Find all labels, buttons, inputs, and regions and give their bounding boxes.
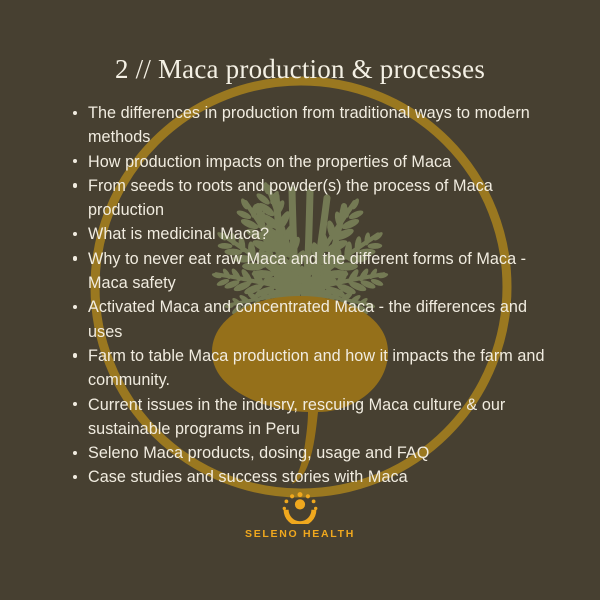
brand-name: SELENO HEALTH <box>0 528 600 540</box>
agenda-bullet-list: The differences in production from tradi… <box>66 101 552 490</box>
seleno-sun-bowl-logo-icon <box>278 492 322 524</box>
list-item: Activated Maca and concentrated Maca - t… <box>66 295 552 344</box>
list-item: The differences in production from tradi… <box>66 101 552 150</box>
list-item: Seleno Maca products, dosing, usage and … <box>66 441 552 465</box>
presentation-slide: 2 // Maca production & processes The dif… <box>0 0 600 600</box>
list-item: What is medicinal Maca? <box>66 222 552 246</box>
list-item: Why to never eat raw Maca and the differ… <box>66 247 552 296</box>
list-item: Case studies and success stories with Ma… <box>66 465 552 489</box>
list-item: Current issues in the indusry, rescuing … <box>66 393 552 442</box>
brand-logo: SELENO HEALTH <box>0 492 600 540</box>
list-item: How production impacts on the properties… <box>66 150 552 174</box>
list-item: Farm to table Maca production and how it… <box>66 344 552 393</box>
slide-title: 2 // Maca production & processes <box>0 54 600 85</box>
list-item: From seeds to roots and powder(s) the pr… <box>66 174 552 223</box>
